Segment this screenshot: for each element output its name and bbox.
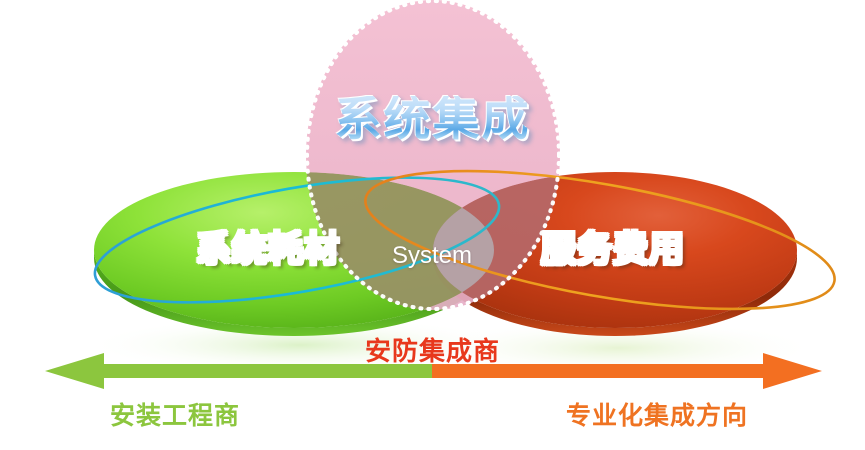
center-title-system-integration: 系统集成	[0, 96, 865, 143]
center-overlap-label-system: System	[392, 244, 472, 268]
diagram-canvas: 系统集成 系统耗材 服务费用 System 安防集成商 安装工程商 专业化集成方…	[0, 0, 865, 450]
axis-left-label-installation-contractor: 安装工程商	[110, 403, 240, 428]
venn-diagram-graphic	[0, 0, 865, 450]
right-disc-label-service-fee: 服务费用	[541, 233, 685, 268]
left-disc-label-consumables: 系统耗材	[196, 233, 340, 268]
axis-title-security-integrator: 安防集成商	[0, 339, 865, 365]
axis-right-label-specialization-direction: 专业化集成方向	[566, 403, 748, 428]
